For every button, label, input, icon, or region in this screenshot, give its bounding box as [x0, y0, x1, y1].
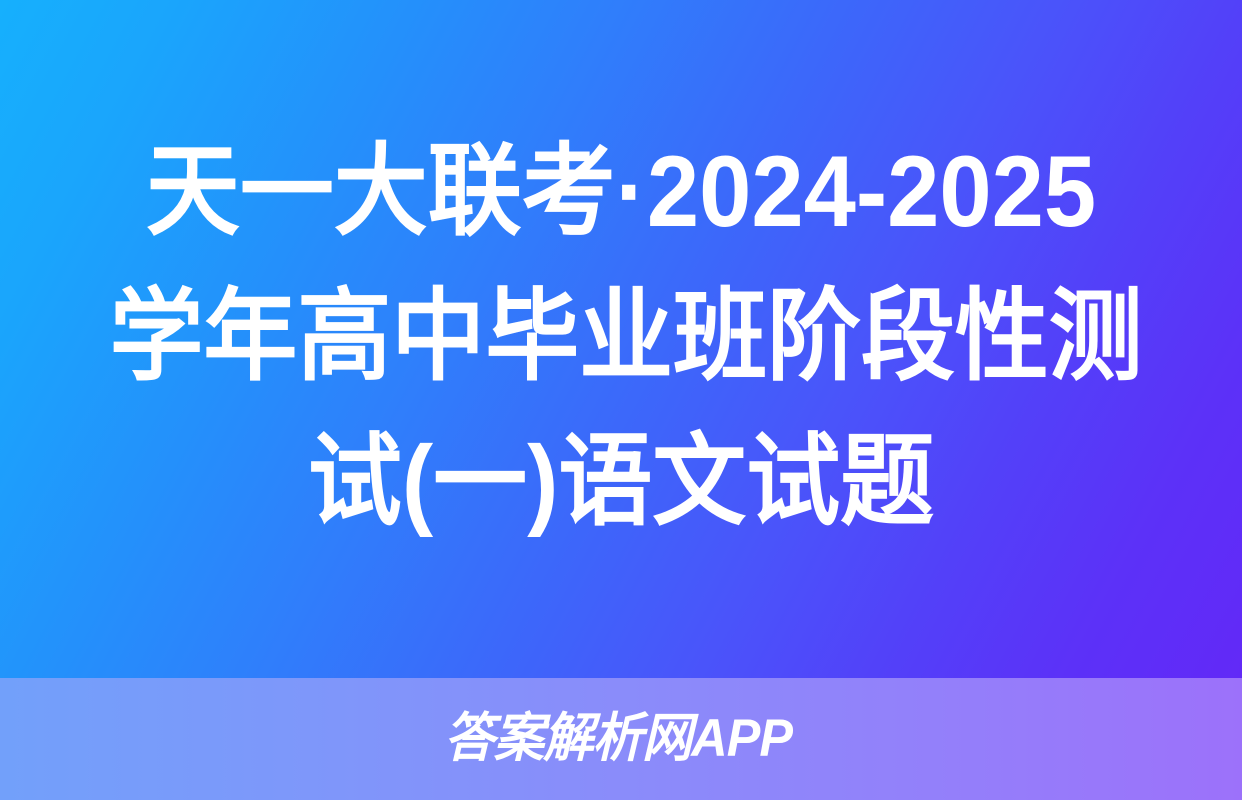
title-line-3: 试(一)语文试题: [110, 410, 1133, 555]
page-title: 天一大联考·2024-2025 学年高中毕业班阶段性测 试(一)语文试题: [71, 120, 1171, 559]
title-line-2: 学年高中毕业班阶段性测: [110, 265, 1133, 410]
title-line-1: 天一大联考·2024-2025: [110, 120, 1133, 265]
watermark-text: 答案解析网APP: [444, 711, 797, 767]
hero-gradient-banner: 天一大联考·2024-2025 学年高中毕业班阶段性测 试(一)语文试题: [0, 0, 1242, 678]
footer-watermark-band: 答案解析网APP: [0, 678, 1242, 800]
poster-container: 天一大联考·2024-2025 学年高中毕业班阶段性测 试(一)语文试题 答案解…: [0, 0, 1242, 800]
